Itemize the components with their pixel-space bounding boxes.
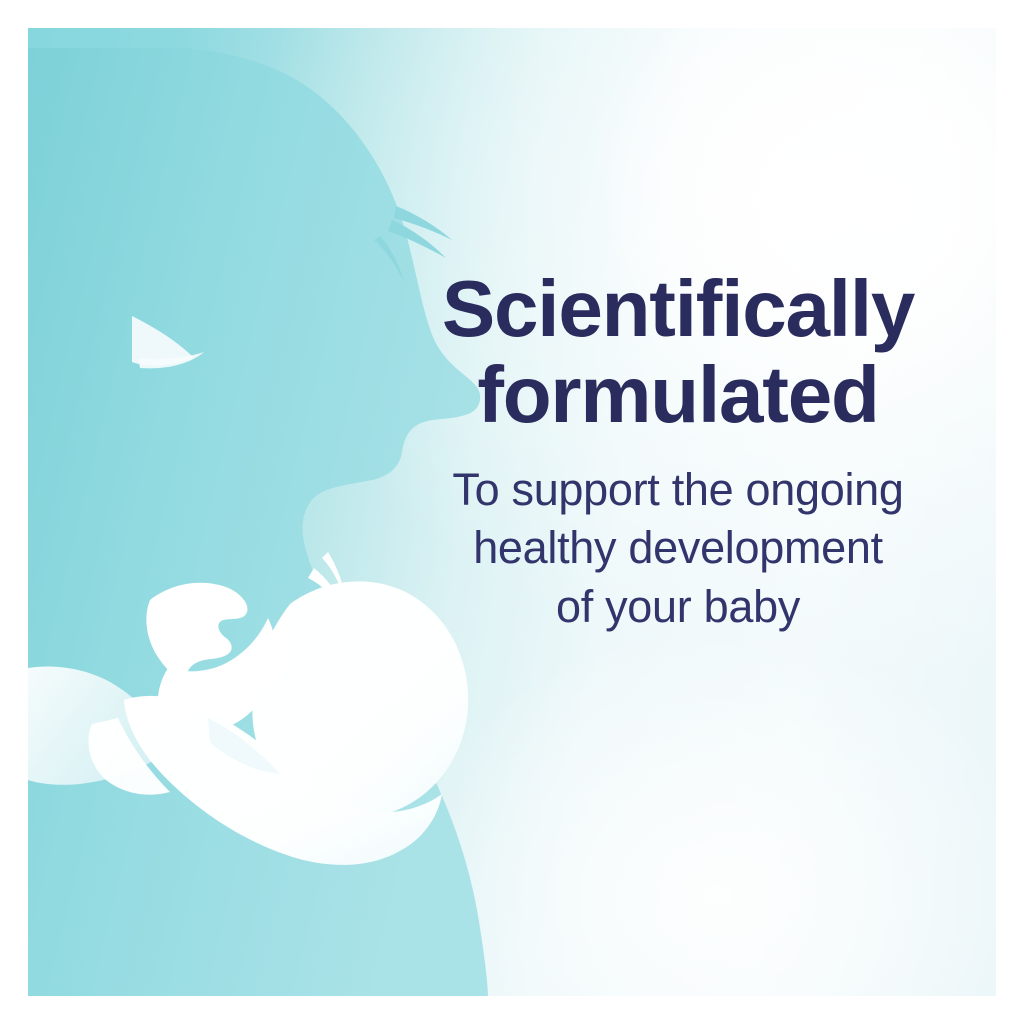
page-title: Scientifically formulated	[378, 266, 978, 439]
artboard: Scientifically formulated To support the…	[28, 28, 996, 996]
promo-card: Scientifically formulated To support the…	[0, 0, 1024, 1024]
copy-block: Scientifically formulated To support the…	[378, 266, 978, 636]
subtitle: To support the ongoing healthy developme…	[378, 461, 978, 637]
